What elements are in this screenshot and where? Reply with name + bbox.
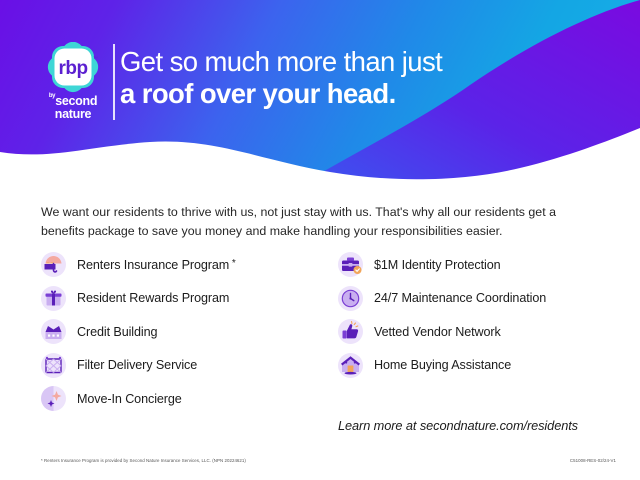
benefits-column-left: Renters Insurance Program *Resident Rewa… [41, 248, 321, 416]
headline-line-1: Get so much more than just [120, 46, 590, 78]
benefit-item: Renters Insurance Program * [41, 248, 321, 282]
benefits-column-right: $1M Identity Protection24/7 Maintenance … [338, 248, 618, 382]
air-filter-icon [41, 353, 66, 378]
benefit-label: Move-In Concierge [77, 392, 182, 406]
gift-icon [41, 286, 66, 311]
learn-more-cta[interactable]: Learn more at secondnature.com/residents [338, 418, 578, 433]
house-icon [338, 353, 363, 378]
rbp-wordmark: rbp [44, 42, 102, 94]
benefit-label: 24/7 Maintenance Coordination [374, 291, 546, 305]
benefit-label: Renters Insurance Program * [77, 258, 236, 272]
legal-footnote: * Renters Insurance Program is provided … [41, 458, 246, 463]
umbrella-icon [41, 252, 66, 277]
second-nature-wordmark: bysecond nature [49, 93, 97, 121]
benefit-item: 24/7 Maintenance Coordination [338, 282, 618, 316]
benefit-label: Credit Building [77, 325, 157, 339]
sparkle-icon [41, 386, 66, 411]
hero-banner: rbp ™ bysecond nature Get so much more t… [0, 0, 640, 185]
benefit-item: Resident Rewards Program [41, 282, 321, 316]
benefit-label: Home Buying Assistance [374, 358, 511, 372]
rbp-logo: rbp ™ bysecond nature [36, 42, 110, 120]
briefcase-shield-icon [338, 252, 363, 277]
benefit-label: Filter Delivery Service [77, 358, 197, 372]
headline-line-2: a roof over your head. [120, 78, 590, 110]
thumbs-up-icon [338, 319, 363, 344]
logo-brand-line1: second [55, 94, 97, 108]
trademark-symbol: ™ [93, 56, 98, 62]
rbp-logo-mark: rbp ™ [44, 42, 102, 90]
benefit-item: Home Buying Assistance [338, 349, 618, 383]
benefit-item: $1M Identity Protection [338, 248, 618, 282]
intro-paragraph: We want our residents to thrive with us,… [41, 203, 597, 241]
logo-brand-line2: nature [49, 108, 97, 121]
benefit-label: Vetted Vendor Network [374, 325, 501, 339]
document-code: C51008-RES-02/24-V1 [570, 458, 616, 463]
benefit-label: Resident Rewards Program [77, 291, 229, 305]
benefit-label: $1M Identity Protection [374, 258, 501, 272]
benefit-item: Filter Delivery Service [41, 349, 321, 383]
hero-headline: Get so much more than just a roof over y… [120, 46, 590, 111]
benefit-item: Vetted Vendor Network [338, 315, 618, 349]
benefit-item: Credit Building [41, 315, 321, 349]
benefit-item: Move-In Concierge [41, 382, 321, 416]
svg-text:rbp: rbp [58, 58, 87, 79]
logo-headline-divider [113, 44, 115, 120]
benefit-asterisk: * [229, 258, 235, 269]
clock-icon [338, 286, 363, 311]
building-icon [41, 319, 66, 344]
